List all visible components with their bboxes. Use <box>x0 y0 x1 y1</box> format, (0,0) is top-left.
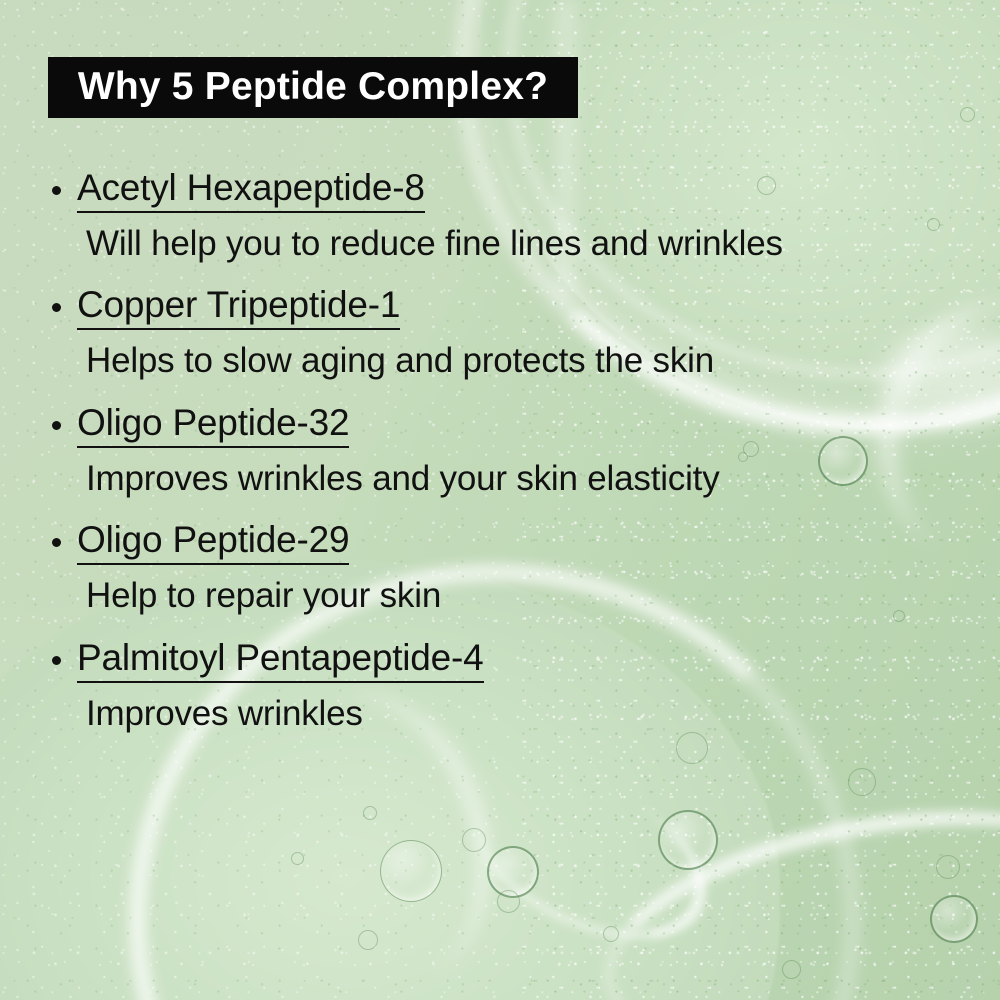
peptide-heading: Copper Tripeptide-1 <box>52 285 952 330</box>
peptide-description: Will help you to reduce fine lines and w… <box>86 225 952 264</box>
peptide-description: Helps to slow aging and protects the ski… <box>86 342 952 381</box>
poster-content: Why 5 Peptide Complex? Acetyl Hexapeptid… <box>0 0 1000 1000</box>
peptide-heading: Palmitoyl Pentapeptide-4 <box>52 638 952 683</box>
list-item: Acetyl Hexapeptide-8 Will help you to re… <box>52 168 952 263</box>
list-item: Oligo Peptide-32 Improves wrinkles and y… <box>52 403 952 498</box>
peptide-heading: Oligo Peptide-29 <box>52 520 952 565</box>
peptide-list: Acetyl Hexapeptide-8 Will help you to re… <box>52 168 952 733</box>
peptide-name: Oligo Peptide-32 <box>77 403 349 448</box>
peptide-heading: Acetyl Hexapeptide-8 <box>52 168 952 213</box>
peptide-name: Acetyl Hexapeptide-8 <box>77 168 425 213</box>
list-item: Palmitoyl Pentapeptide-4 Improves wrinkl… <box>52 638 952 733</box>
bullet-icon <box>52 656 61 665</box>
peptide-name: Copper Tripeptide-1 <box>77 285 400 330</box>
peptide-name: Palmitoyl Pentapeptide-4 <box>77 638 484 683</box>
title-banner: Why 5 Peptide Complex? <box>48 57 578 118</box>
bullet-icon <box>52 421 61 430</box>
page-title: Why 5 Peptide Complex? <box>78 67 548 109</box>
list-item: Oligo Peptide-29 Help to repair your ski… <box>52 520 952 615</box>
list-item: Copper Tripeptide-1 Helps to slow aging … <box>52 285 952 380</box>
peptide-complex-poster: Why 5 Peptide Complex? Acetyl Hexapeptid… <box>0 0 1000 1000</box>
peptide-name: Oligo Peptide-29 <box>77 520 349 565</box>
peptide-description: Improves wrinkles <box>86 695 952 734</box>
peptide-description: Improves wrinkles and your skin elastici… <box>86 460 952 499</box>
bullet-icon <box>52 303 61 312</box>
bullet-icon <box>52 538 61 547</box>
bullet-icon <box>52 186 61 195</box>
peptide-description: Help to repair your skin <box>86 577 952 616</box>
peptide-heading: Oligo Peptide-32 <box>52 403 952 448</box>
